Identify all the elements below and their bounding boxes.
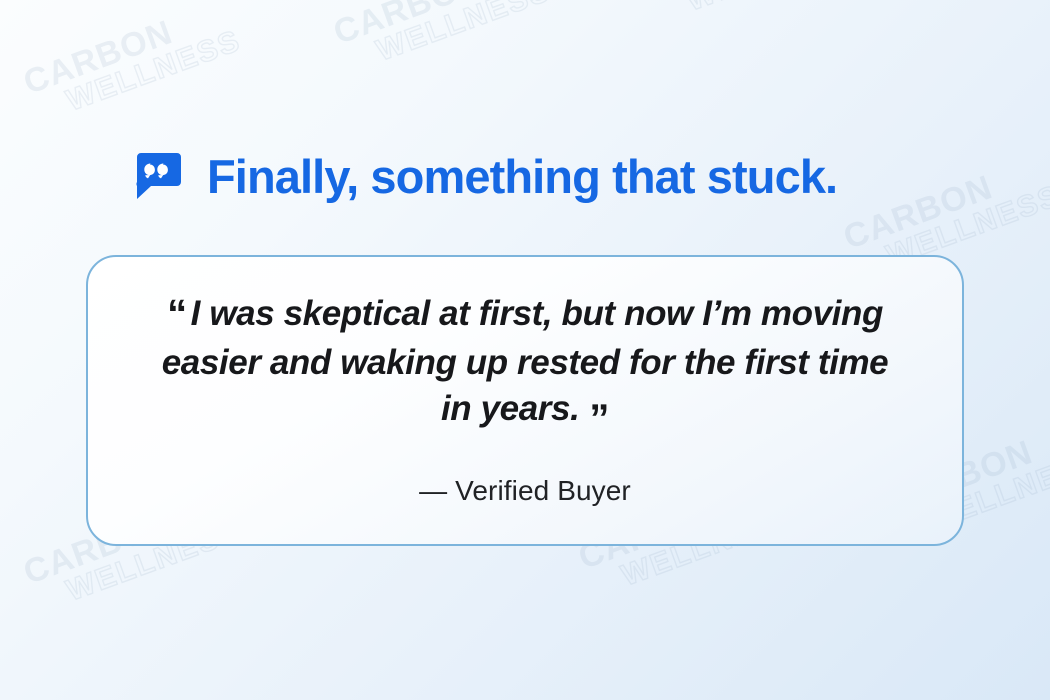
quote-text-block: “I was skeptical at first, but now I’m m… xyxy=(145,288,905,446)
page-title: Finally, something that stuck. xyxy=(207,153,837,200)
headline-row: Finally, something that stuck. xyxy=(133,150,837,202)
testimonial-slide: Finally, something that stuck. “I was sk… xyxy=(0,0,1050,700)
testimonial-card: “I was skeptical at first, but now I’m m… xyxy=(86,255,964,546)
quote-text: I was skeptical at first, but now I’m mo… xyxy=(162,294,889,428)
quote-bubble-icon xyxy=(133,150,185,202)
open-quote-icon: “ xyxy=(167,292,187,336)
close-quote-icon: ” xyxy=(589,397,609,441)
attribution: — Verified Buyer xyxy=(419,475,631,507)
